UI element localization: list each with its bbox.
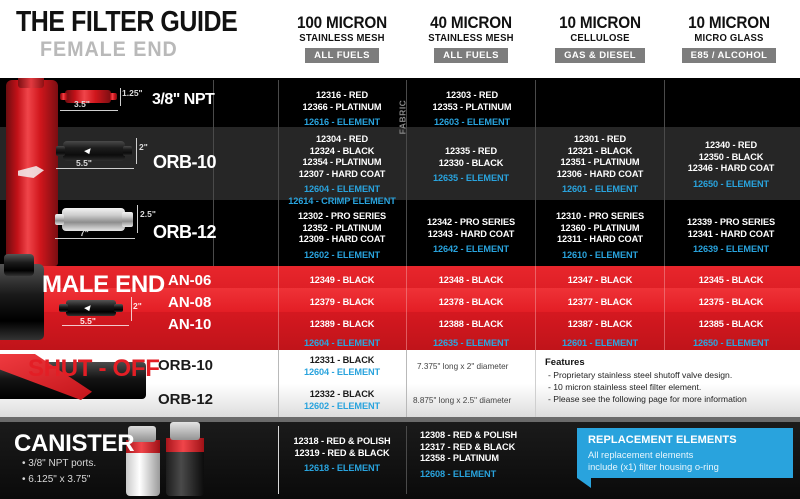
part-number: 12309 - HARD COAT [278, 234, 406, 246]
part-number: 12319 - RED & BLACK [278, 448, 406, 460]
part-number: 12307 - HARD COAT [278, 169, 406, 181]
male-length-dim: 5.5" [80, 316, 96, 326]
element-part-number: 12604 - ELEMENT [278, 184, 406, 196]
replacement-elements-title: REPLACEMENT ELEMENTS [588, 434, 737, 446]
cell-orb12-10micron-microglass: 12339 - PRO SERIES 12341 - HARD COAT 126… [666, 217, 796, 256]
col-divider-3 [664, 80, 665, 266]
element-part-number: 12635 - ELEMENT [408, 173, 534, 185]
page-header: THE FILTER GUIDE FEMALE END 100 MICRON S… [0, 0, 800, 78]
part-number: 12306 - HARD COAT [537, 169, 663, 181]
part-number: 12354 - PLATINUM [278, 157, 406, 169]
product-image-canister-black [166, 450, 204, 496]
part-number: 12311 - HARD COAT [537, 234, 663, 246]
cell-shutoff-orb12-part: 12332 - BLACK 12602 - ELEMENT [278, 389, 406, 412]
part-number: 12321 - BLACK [537, 146, 663, 158]
orb10-diameter-dim: 2" [139, 142, 148, 152]
col-divider-red-2 [535, 266, 536, 350]
row-label-npt: 3/8" NPT [152, 91, 214, 109]
col-divider-shutoff-1 [406, 350, 407, 417]
cell-npt-100micron: 12316 - RED 12366 - PLATINUM 12616 - ELE… [278, 90, 406, 129]
column-fuel-badge: ALL FUELS [305, 48, 379, 63]
part-number: 12350 - BLACK [666, 152, 796, 164]
orb10-diameter-line [136, 138, 137, 164]
part-number: 12301 - RED [537, 134, 663, 146]
orb10-length-line [56, 168, 134, 169]
canister-bullet-text: 6.125" x 3.75" [28, 474, 90, 485]
npt-fitting-right [109, 93, 117, 100]
orb10-logo: ◀ [84, 147, 89, 155]
column-header-40-micron: 40 MICRON STAINLESS MESH ALL FUELS [407, 14, 535, 63]
part-number: 12346 - HARD COAT [666, 163, 796, 175]
header-underline [0, 78, 800, 80]
male-filter-fitting-right [114, 304, 123, 312]
cell-canister-10micron-cellulose: 12308 - RED & POLISH 12317 - RED & BLACK… [420, 430, 560, 480]
part-number: 12351 - PLATINUM [537, 157, 663, 169]
filter-guide-sheet: 3.5" 1.25" ◀ 5.5" 2" 7" 2.5" ◀ 5.5" 2" [0, 0, 800, 499]
part-number: 12341 - HARD COAT [666, 229, 796, 241]
row-label-an06: AN-06 [168, 272, 211, 289]
part-number: 12303 - RED [410, 90, 534, 102]
cell-npt-40micron: 12303 - RED 12353 - PLATINUM 12603 - ELE… [410, 90, 534, 129]
column-micron-label: 100 MICRON [284, 14, 399, 31]
cell-male-element-10micron-microglass: 12650 - ELEMENT [666, 338, 796, 350]
element-part-number: 12602 - ELEMENT [278, 250, 406, 262]
cell-orb12-40micron: 12342 - PRO SERIES 12343 - HARD COAT 126… [408, 217, 534, 256]
column-fuel-badge: ALL FUELS [434, 48, 508, 63]
column-material-label: CELLULOSE [539, 33, 661, 44]
orb12-fitting-right [122, 212, 133, 227]
male-diameter-line [131, 297, 132, 321]
part-number: 12302 - PRO SERIES [278, 211, 406, 223]
orb12-fitting-left [55, 214, 64, 225]
part-number: 12366 - PLATINUM [278, 102, 406, 114]
replacement-elements-line: All replacement elements [588, 449, 693, 460]
part-number: 12360 - PLATINUM [537, 223, 663, 235]
part-number: 12304 - RED [278, 134, 406, 146]
page-subtitle: FEMALE END [40, 38, 178, 62]
element-part-number: 12603 - ELEMENT [410, 117, 534, 129]
cell-canister-100micron: 12318 - RED & POLISH 12319 - RED & BLACK… [278, 436, 406, 475]
column-micron-label: 40 MICRON [413, 14, 528, 31]
column-header-100-micron: 100 MICRON STAINLESS MESH ALL FUELS [278, 14, 406, 63]
element-part-number: 12604 - ELEMENT [278, 367, 406, 379]
shutoff-orb10-dimension: 7.375" long x 2" diameter [417, 362, 508, 371]
column-header-10-micron-microglass: 10 MICRON MICRO GLASS E85 / ALCOHOL [665, 14, 793, 63]
part-number: 12316 - RED [278, 90, 406, 102]
element-part-number: 12650 - ELEMENT [666, 179, 796, 191]
canister-bullet-text: 3/8" NPT ports. [28, 458, 96, 469]
element-part-number: 12642 - ELEMENT [408, 244, 534, 256]
column-fuel-badge: GAS & DIESEL [555, 48, 645, 63]
part-number: 12332 - BLACK [278, 389, 406, 401]
npt-length-dim: 3.5" [74, 99, 90, 109]
element-part-number: 12639 - ELEMENT [666, 244, 796, 256]
product-image-orb10-filter [63, 141, 125, 161]
part-number: 12324 - BLACK [278, 146, 406, 158]
cell-male-element-100micron: 12604 - ELEMENT [278, 338, 406, 350]
row-label-an08: AN-08 [168, 294, 211, 311]
product-image-male-filter [66, 300, 116, 316]
row-label-shutoff-orb10: ORB-10 [158, 357, 213, 374]
column-fuel-badge: E85 / ALCOHOL [682, 48, 777, 63]
male-diameter-dim: 2" [133, 301, 142, 311]
cell-an10-10micron-cellulose: 12387 - BLACK [537, 319, 663, 331]
npt-length-line [60, 110, 118, 111]
part-number: 12318 - RED & POLISH [278, 436, 406, 448]
canister-black-collar [166, 438, 204, 452]
part-number: 12343 - HARD COAT [408, 229, 534, 241]
col-divider-2 [535, 80, 536, 266]
section-title-canister: CANISTER [14, 430, 134, 458]
npt-diameter-dim: 1.25" [122, 88, 143, 98]
cell-an10-100micron: 12389 - BLACK [278, 319, 406, 331]
element-part-number: 12610 - ELEMENT [537, 250, 663, 262]
male-filter-fitting-left [59, 304, 68, 312]
element-part-number: 12601 - ELEMENT [537, 184, 663, 196]
male-fitting-hex [4, 254, 34, 276]
column-material-label: MICRO GLASS [668, 33, 790, 44]
part-number: 12335 - RED [408, 146, 534, 158]
orb12-diameter-dim: 2.5" [140, 209, 156, 219]
row-label-orb12: ORB-12 [153, 222, 216, 243]
cell-male-element-10micron-cellulose: 12601 - ELEMENT [537, 338, 663, 350]
cell-an10-40micron: 12388 - BLACK [408, 319, 534, 331]
orb12-diameter-line [137, 205, 138, 233]
cell-male-element-40micron: 12635 - ELEMENT [408, 338, 534, 350]
part-number: 12358 - PLATINUM [420, 453, 560, 465]
cell-orb10-10micron-cellulose: 12301 - RED 12321 - BLACK 12351 - PLATIN… [537, 134, 663, 196]
replacement-elements-line: include (x1) filter housing o-ring [588, 461, 719, 472]
part-number: 12310 - PRO SERIES [537, 211, 663, 223]
npt-diameter-line [120, 88, 121, 106]
orb10-fitting-right [123, 146, 132, 156]
col-divider-red-3 [664, 266, 665, 350]
cell-an06-40micron: 12348 - BLACK [408, 275, 534, 287]
canister-bullet: • 3/8" NPT ports. [22, 458, 96, 469]
orb10-fitting-left [56, 146, 65, 156]
element-part-number: 12616 - ELEMENT [278, 117, 406, 129]
column-material-label: STAINLESS MESH [281, 33, 403, 44]
feature-item: - Proprietary stainless steel shutoff va… [548, 370, 732, 380]
callout-tail [577, 478, 591, 488]
part-number: 12340 - RED [666, 140, 796, 152]
section-title-shut-off: SHUT - OFF [28, 355, 160, 383]
features-title: Features [545, 357, 585, 368]
part-number: 12342 - PRO SERIES [408, 217, 534, 229]
column-header-10-micron-cellulose: 10 MICRON CELLULOSE GAS & DIESEL [536, 14, 664, 63]
cell-orb12-10micron-cellulose: 12310 - PRO SERIES 12360 - PLATINUM 1231… [537, 211, 663, 261]
part-number: 12353 - PLATINUM [410, 102, 534, 114]
cell-orb12-100micron: 12302 - PRO SERIES 12352 - PLATINUM 1230… [278, 211, 406, 261]
element-part-number: 12608 - ELEMENT [420, 469, 560, 481]
cell-orb10-10micron-microglass: 12340 - RED 12350 - BLACK 12346 - HARD C… [666, 140, 796, 190]
row-label-orb10: ORB-10 [153, 152, 216, 173]
product-image-orb12-filter [62, 208, 125, 231]
part-number: 12330 - BLACK [408, 158, 534, 170]
part-number: 12352 - PLATINUM [278, 223, 406, 235]
crimp-element-part-number: 12614 - CRIMP ELEMENT [278, 196, 406, 208]
cell-an08-100micron: 12379 - BLACK [278, 297, 406, 309]
col-divider-canister-1 [406, 426, 407, 494]
column-micron-label: 10 MICRON [671, 14, 786, 31]
orb12-length-line [55, 238, 135, 239]
row-label-shutoff-orb12: ORB-12 [158, 391, 213, 408]
male-filter-logo: ◀ [84, 304, 89, 312]
element-part-number: 12618 - ELEMENT [278, 463, 406, 475]
col-divider-shutoff-2 [535, 350, 536, 417]
product-image-red-filter-cap [18, 78, 44, 88]
cell-an06-10micron-microglass: 12345 - BLACK [666, 275, 796, 287]
orb12-length-dim: 7" [80, 228, 89, 238]
column-material-label: STAINLESS MESH [410, 33, 532, 44]
canister-black-head [170, 422, 200, 440]
cell-an06-10micron-cellulose: 12347 - BLACK [537, 275, 663, 287]
cell-an08-10micron-microglass: 12375 - BLACK [666, 297, 796, 309]
part-number: 12339 - PRO SERIES [666, 217, 796, 229]
cell-an10-10micron-microglass: 12385 - BLACK [666, 319, 796, 331]
row-label-an10: AN-10 [168, 316, 211, 333]
cell-an08-10micron-cellulose: 12377 - BLACK [537, 297, 663, 309]
feature-item: - Please see the following page for more… [548, 394, 747, 404]
cell-orb10-40micron: 12335 - RED 12330 - BLACK 12635 - ELEMEN… [408, 146, 534, 185]
cell-an06-100micron: 12349 - BLACK [278, 275, 406, 287]
part-number: 12317 - RED & BLACK [420, 442, 560, 454]
cell-an08-40micron: 12378 - BLACK [408, 297, 534, 309]
section-title-male-end: MALE END [42, 271, 165, 299]
canister-bullet: • 6.125" x 3.75" [22, 474, 90, 485]
orb10-length-dim: 5.5" [76, 158, 92, 168]
col-divider-red-1 [406, 266, 407, 350]
part-number: 12331 - BLACK [278, 355, 406, 367]
cell-orb10-100micron: 12304 - RED 12324 - BLACK 12354 - PLATIN… [278, 134, 406, 208]
element-part-number: 12602 - ELEMENT [278, 401, 406, 413]
table-body: 3.5" 1.25" ◀ 5.5" 2" 7" 2.5" ◀ 5.5" 2" [0, 78, 800, 499]
part-number: 12308 - RED & POLISH [420, 430, 560, 442]
page-title: THE FILTER GUIDE [16, 6, 237, 39]
column-micron-label: 10 MICRON [542, 14, 657, 31]
npt-fitting-left [60, 93, 68, 100]
shutoff-orb12-dimension: 8.875" long x 2.5" diameter [413, 396, 511, 405]
cell-shutoff-orb10-part: 12331 - BLACK 12604 - ELEMENT [278, 355, 406, 378]
feature-item: - 10 micron stainless steel filter eleme… [548, 382, 701, 392]
